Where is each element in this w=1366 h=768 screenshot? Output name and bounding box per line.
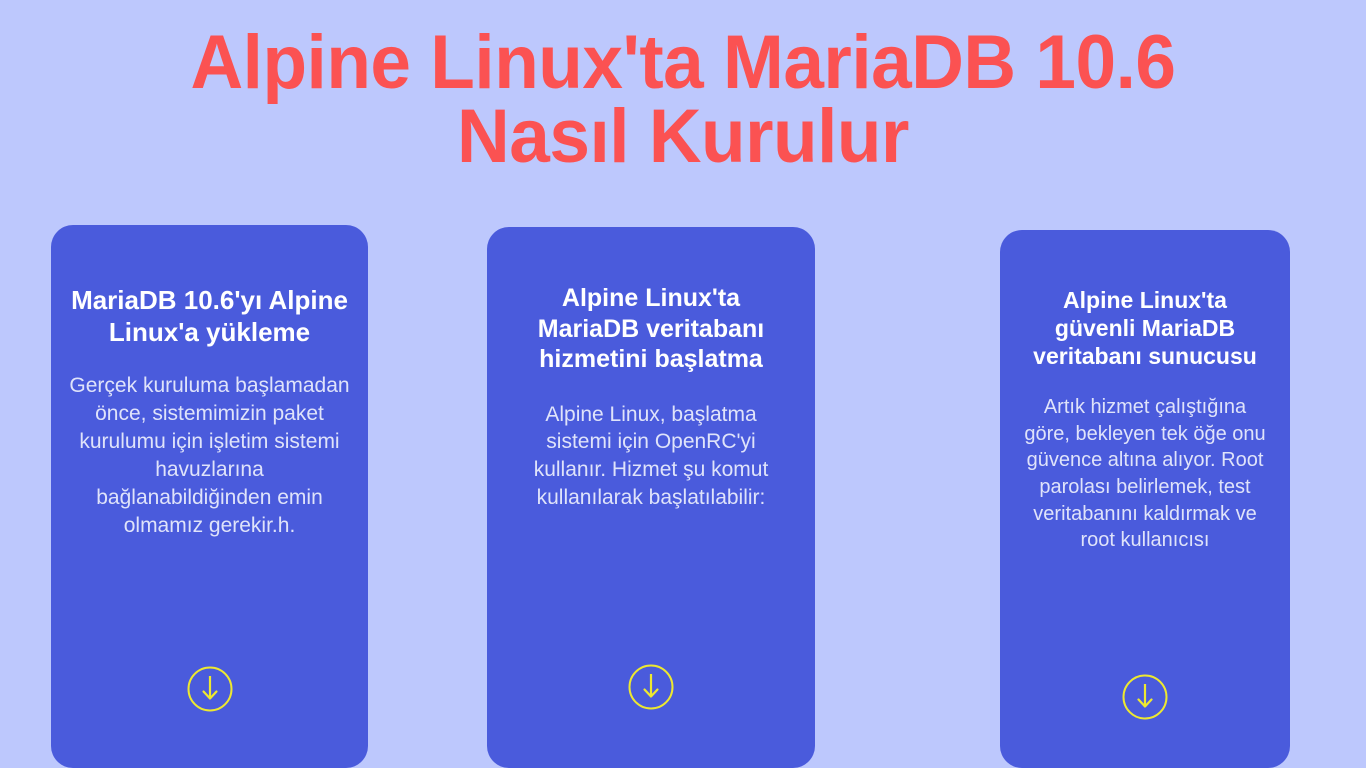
- card-body-text: Alpine Linux, başlatma sistemi için Open…: [487, 401, 815, 513]
- page-title-line-1: Alpine Linux'ta MariaDB 10.6: [27, 26, 1338, 100]
- arrow-down-circle-icon[interactable]: [186, 665, 234, 713]
- card-heading: Alpine Linux'ta MariaDB veritabanı hizme…: [487, 283, 815, 375]
- arrow-down-circle-icon[interactable]: [1121, 673, 1169, 721]
- info-card-secure-server[interactable]: Alpine Linux'ta güvenli MariaDB veritaba…: [1000, 230, 1290, 768]
- info-card-start-service[interactable]: Alpine Linux'ta MariaDB veritabanı hizme…: [487, 227, 815, 768]
- page-title-line-2: Nasıl Kurulur: [27, 100, 1338, 174]
- page-title: Alpine Linux'ta MariaDB 10.6 Nasıl Kurul…: [0, 26, 1366, 175]
- info-card-install[interactable]: MariaDB 10.6'yı Alpine Linux'a yükleme G…: [51, 225, 368, 768]
- card-heading: MariaDB 10.6'yı Alpine Linux'a yükleme: [51, 285, 368, 348]
- arrow-down-circle-icon[interactable]: [627, 663, 675, 711]
- card-heading: Alpine Linux'ta güvenli MariaDB veritaba…: [1000, 286, 1290, 370]
- card-body-text: Artık hizmet çalıştığına göre, bekleyen …: [1000, 394, 1290, 554]
- card-body-text: Gerçek kuruluma başlamadan önce, sistemi…: [51, 372, 368, 540]
